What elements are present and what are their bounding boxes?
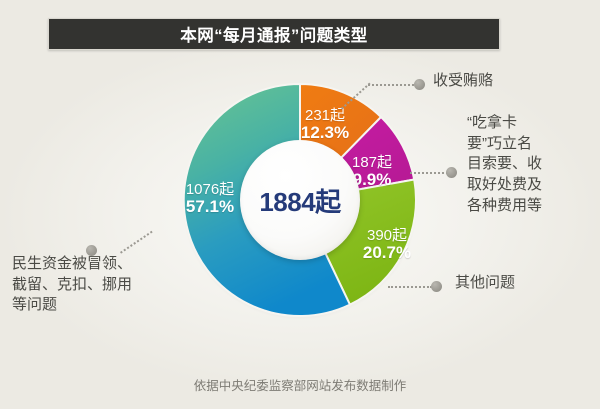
callout-line: “吃拿卡 xyxy=(467,113,597,134)
callout-line: 要”巧立名 xyxy=(467,134,597,155)
callout-line: 截留、克扣、挪用 xyxy=(12,275,192,296)
callout-extort[interactable]: “吃拿卡 要”巧立名 目索要、收 取好处费及 各种费用等 xyxy=(467,113,597,216)
callout-bribe[interactable]: 收受贿赂 xyxy=(433,71,593,92)
callout-line: 目索要、收 xyxy=(467,154,597,175)
infographic-page: 本网“每月通报”问题类型 xyxy=(0,0,600,409)
leader-dot-extort xyxy=(446,167,457,178)
source-note: 依据中央纪委监察部网站发布数据制作 xyxy=(0,375,600,394)
callout-line: 其他问题 xyxy=(455,273,595,294)
pie-chart: 231起 12.3% 187起 9.9% 390起 20.7% 1076起 57… xyxy=(0,0,600,409)
donut-center: 1884起 xyxy=(240,140,360,260)
callout-line: 收受贿赂 xyxy=(433,71,593,92)
total-value: 1884起 xyxy=(259,182,340,219)
callout-line: 民生资金被冒领、 xyxy=(12,254,192,275)
callout-line: 各种费用等 xyxy=(467,196,597,217)
leader-dot-other xyxy=(431,281,442,292)
callout-line: 取好处费及 xyxy=(467,175,597,196)
callout-line: 等问题 xyxy=(12,295,192,316)
callout-other[interactable]: 其他问题 xyxy=(455,273,595,294)
leader-segment-diagonal xyxy=(120,231,153,254)
callout-misuse[interactable]: 民生资金被冒领、 截留、克扣、挪用 等问题 xyxy=(12,254,192,316)
